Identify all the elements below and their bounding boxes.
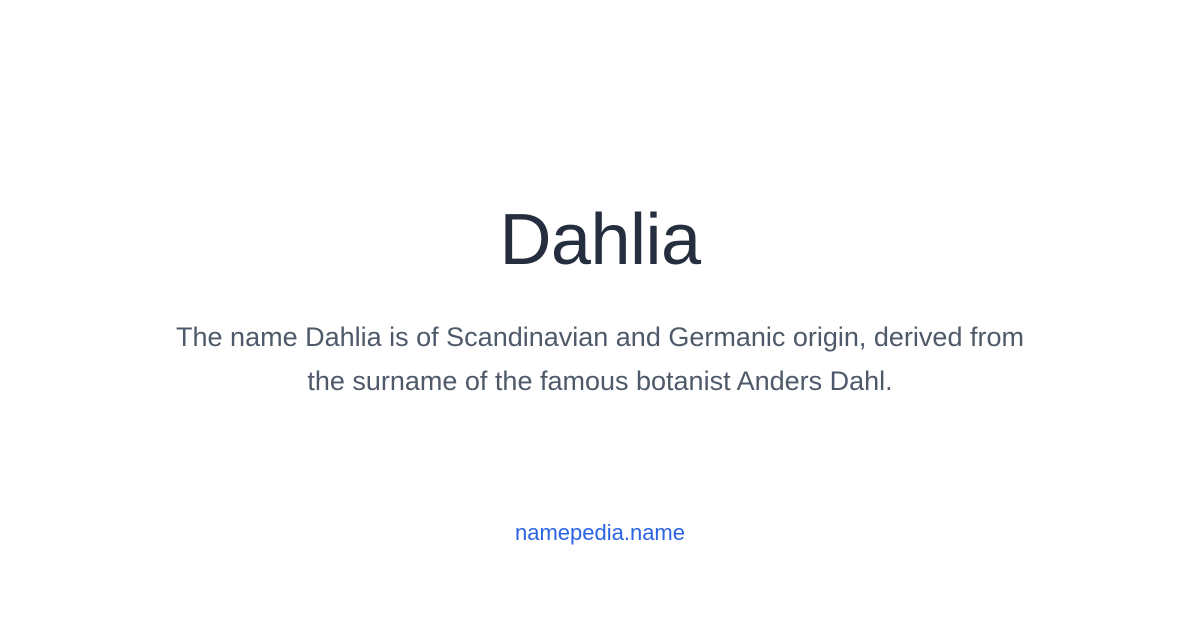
page-title: Dahlia: [0, 204, 1200, 276]
name-meaning-card: Dahlia The name Dahlia is of Scandinavia…: [0, 0, 1200, 630]
name-description: The name Dahlia is of Scandinavian and G…: [160, 315, 1040, 403]
site-link[interactable]: namepedia.name: [515, 520, 685, 545]
site-footer: namepedia.name: [0, 520, 1200, 546]
